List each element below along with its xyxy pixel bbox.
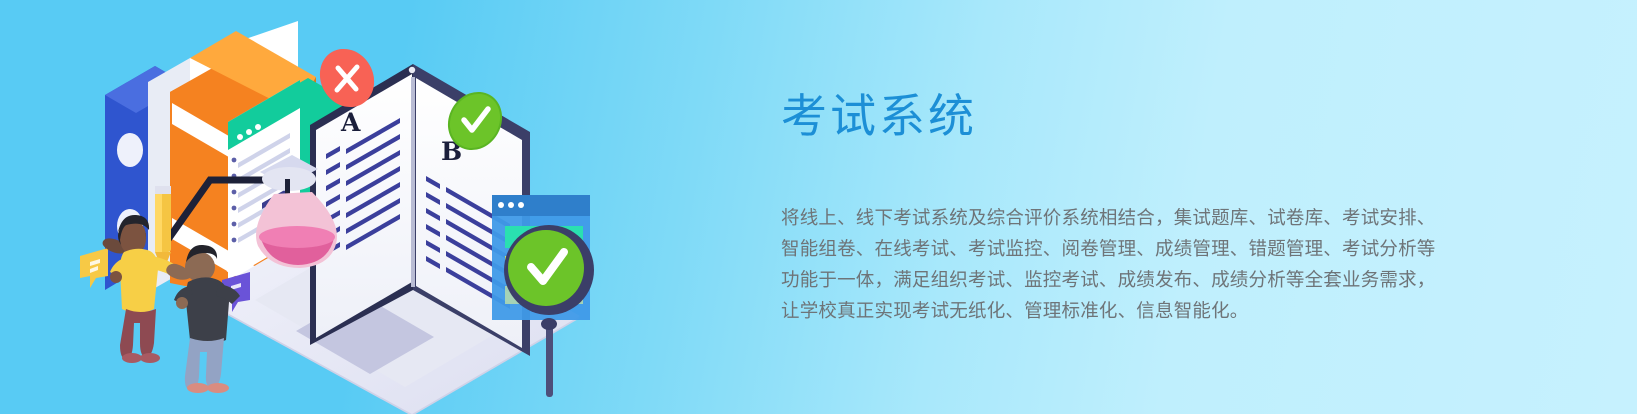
yellow-chat-bubble-icon: [80, 248, 108, 288]
man-in-dark-shirt-icon: [166, 245, 244, 393]
hero-copy: 考试系统 将线上、线下考试系统及综合评价系统相结合，集试题库、试卷库、考试安排、…: [781, 0, 1541, 414]
answer-label-a: A: [340, 108, 361, 137]
page-description: 将线上、线下考试系统及综合评价系统相结合，集试题库、试卷库、考试安排、 智能组卷…: [781, 203, 1481, 327]
page-title: 考试系统: [781, 86, 977, 146]
description-line: 让学校真正实现考试无纸化、管理标准化、信息智能化。: [781, 296, 1481, 327]
description-line: 将线上、线下考试系统及综合评价系统相结合，集试题库、试卷库、考试安排、: [781, 203, 1481, 234]
description-line: 功能于一体，满足组织考试、监控考试、成绩发布、成绩分析等全套业务需求，: [781, 265, 1481, 296]
exam-system-illustration: A B: [60, 0, 680, 414]
hero-banner: A B: [0, 0, 1637, 414]
description-line: 智能组卷、在线考试、考试监控、阅卷管理、成绩管理、错题管理、考试分析等: [781, 234, 1481, 265]
